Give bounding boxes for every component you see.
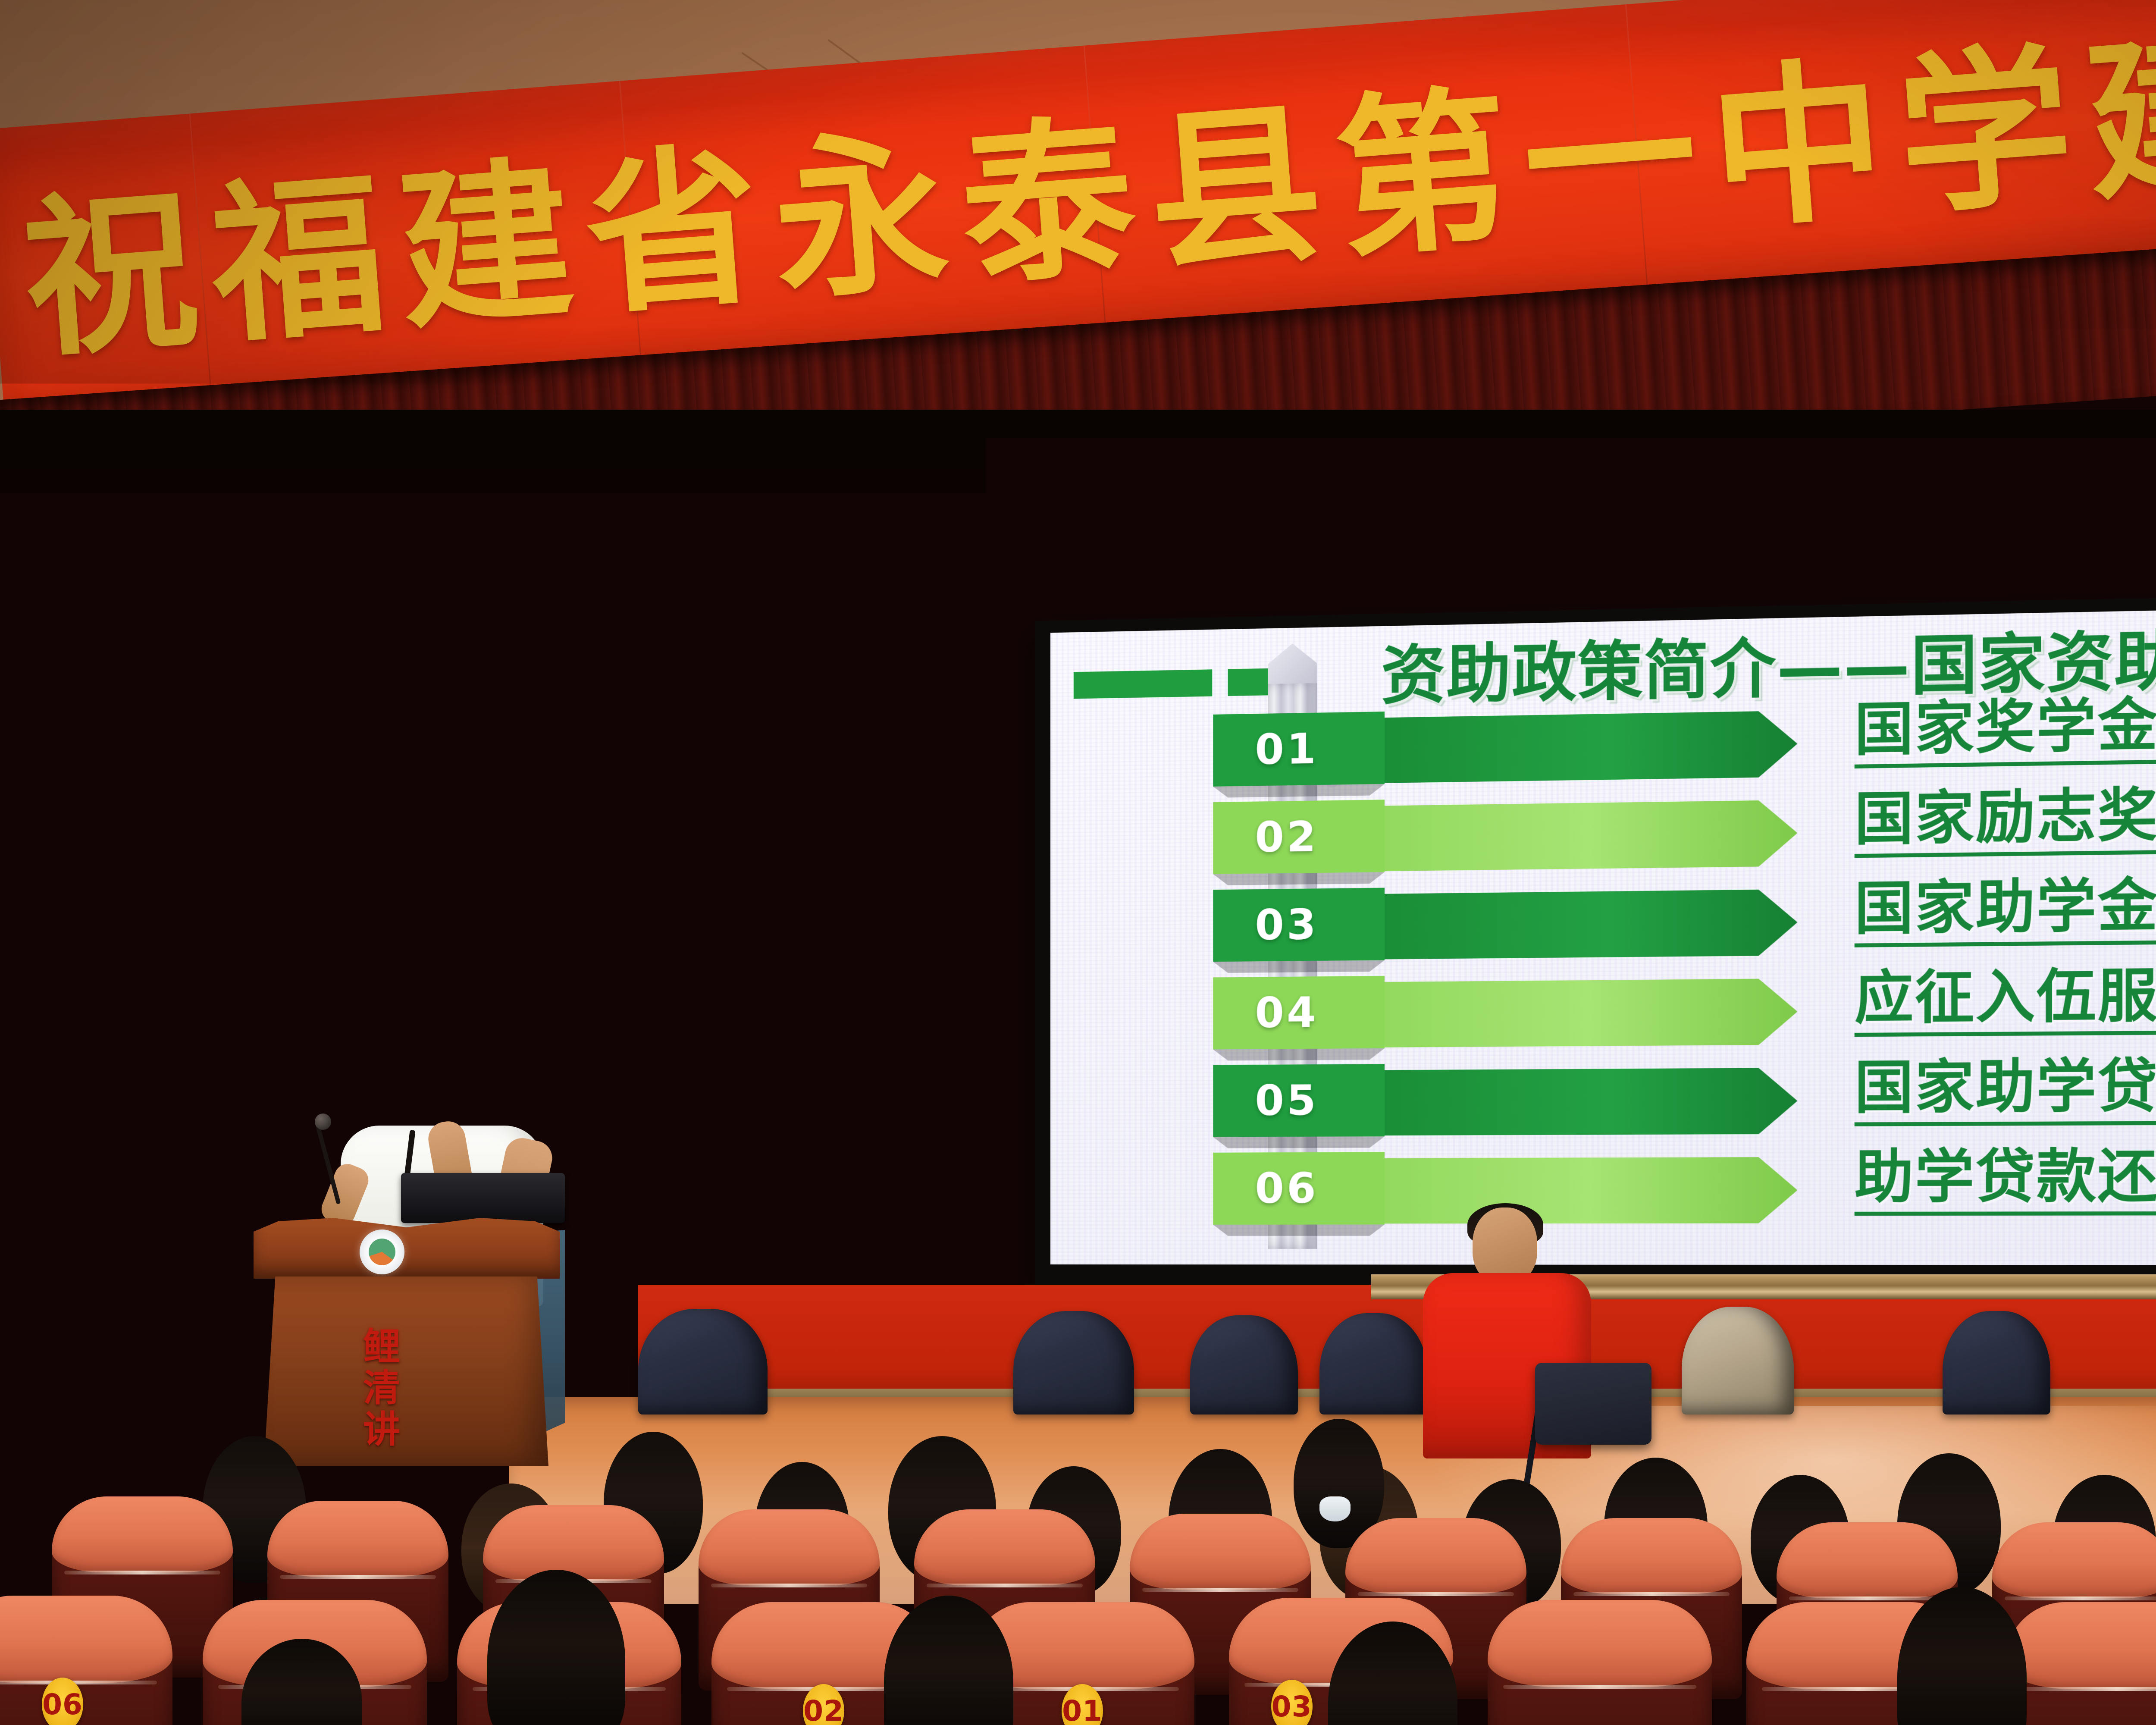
stage-bag — [1013, 1311, 1134, 1414]
school-crest-icon — [360, 1229, 404, 1274]
auditorium-seat[interactable]: 06 — [0, 1596, 172, 1725]
list-item: 04 应征入伍服兵役国家资 — [1050, 964, 2156, 1066]
laptop — [401, 1173, 565, 1223]
stage-bag — [1682, 1307, 1794, 1414]
item-arrow-bar — [1385, 979, 1797, 1048]
list-item: 05 国家助学贷款 — [1050, 1056, 2156, 1153]
audience-face-mask — [1319, 1496, 1351, 1521]
item-number-badge: 01 — [1213, 712, 1385, 787]
item-label: 国家励志奖学金 — [1855, 784, 2156, 858]
stage-speaker-fixture — [1764, 530, 1824, 573]
projection-screen: 资助政策简介——国家资助 01 国家奖学金 02 国家励志奖学金 03 — [1035, 587, 2156, 1287]
stage-bag — [1319, 1313, 1427, 1414]
item-number-badge: 03 — [1213, 888, 1385, 962]
accent-block-long — [1074, 669, 1212, 699]
seat-number-badge: 06 — [42, 1678, 83, 1725]
stage-light-fixture — [1048, 552, 1117, 586]
item-arrow-bar — [1385, 889, 1797, 960]
slide-accent-blocks — [1074, 668, 1268, 699]
signpost-cap-icon — [1268, 643, 1317, 687]
item-arrow-bar — [1385, 1157, 1797, 1223]
stage-bag — [1190, 1315, 1298, 1414]
item-label: 国家助学贷款 — [1855, 1056, 2156, 1126]
item-label: 应征入伍服兵役国家资 — [1855, 964, 2156, 1037]
item-label: 国家奖学金 — [1855, 696, 2156, 768]
slide-item-list: 01 国家奖学金 02 国家励志奖学金 03 国家助学金 04 — [1050, 689, 2156, 1240]
accent-block-short — [1228, 668, 1268, 696]
presentation-slide: 资助政策简介——国家资助 01 国家奖学金 02 国家励志奖学金 03 — [1050, 600, 2156, 1265]
podium-vertical-text: 鲤 清 讲 — [332, 1328, 431, 1448]
assistant-shoulder-bag — [1535, 1363, 1651, 1445]
auditorium-scene: 祝福建省永泰县第一中学建 资助政策简介——国家资助 01 国家奖学金 — [0, 0, 2156, 1725]
stage-bag — [1943, 1311, 2050, 1414]
list-item: 06 助学贷款还款救助机 — [1050, 1148, 2156, 1240]
item-arrow-bar — [1385, 800, 1797, 871]
item-label: 国家助学金 — [1855, 876, 2156, 947]
item-number-badge: 04 — [1213, 976, 1385, 1049]
item-number-badge: 02 — [1213, 800, 1385, 874]
item-arrow-bar — [1385, 711, 1797, 783]
item-number-badge: 06 — [1213, 1152, 1385, 1225]
item-number-badge: 05 — [1213, 1064, 1385, 1137]
stage-bag — [638, 1309, 768, 1414]
podium-char-3: 讲 — [363, 1411, 400, 1448]
podium-char-2: 清 — [363, 1370, 400, 1407]
lectern-microphone-head-icon — [315, 1113, 331, 1130]
item-arrow-bar — [1385, 1068, 1797, 1135]
auditorium-seat[interactable] — [2005, 1602, 2156, 1725]
podium-char-1: 鲤 — [363, 1328, 400, 1365]
item-label: 助学贷款还款救助机 — [1855, 1146, 2156, 1216]
